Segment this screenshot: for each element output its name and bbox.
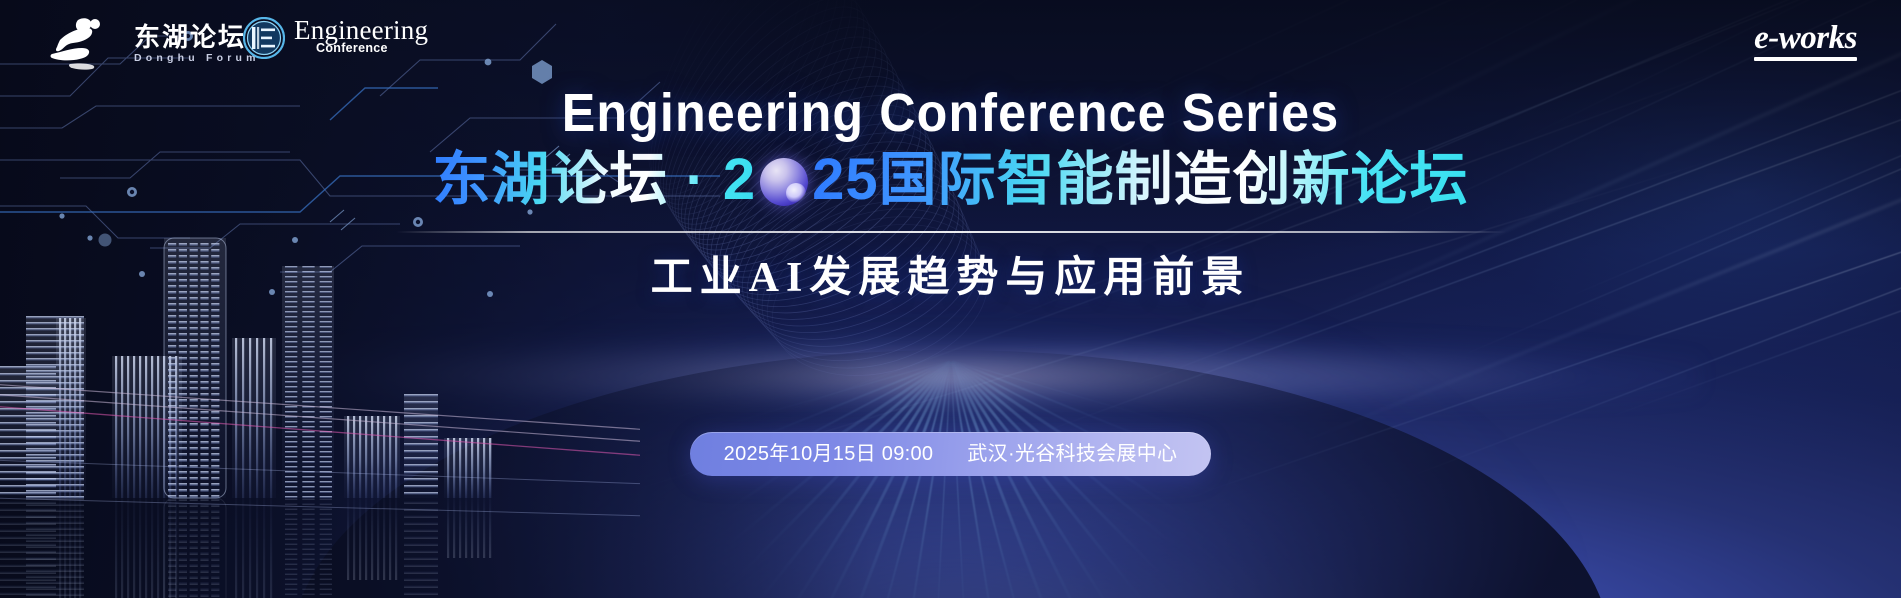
donghu-name-en: Donghu Forum xyxy=(134,53,260,64)
headline-zero-orb xyxy=(756,152,812,210)
donghu-running-figure-mark xyxy=(48,14,120,74)
ec-line-conference: Conference xyxy=(316,41,388,55)
building-reflection xyxy=(164,498,226,598)
conference-banner: 东湖论坛 Donghu Forum Engineering Confere xyxy=(0,0,1901,598)
building-stripes xyxy=(164,498,226,598)
info-pill-wrapper: 2025年10月15日 09:00 武汉·光谷科技会展中心 xyxy=(0,432,1901,476)
building-reflection xyxy=(347,498,397,580)
building-stripes xyxy=(235,498,272,598)
event-datetime: 2025年10月15日 09:00 xyxy=(724,444,934,464)
event-info-pill: 2025年10月15日 09:00 武汉·光谷科技会展中心 xyxy=(690,432,1212,476)
building-stripes xyxy=(447,498,491,558)
donghu-logo-text: 东湖论坛 Donghu Forum xyxy=(134,24,260,64)
engineering-conference-wordmark: Engineering Conference xyxy=(294,16,444,60)
eworks-wordmark: e-works xyxy=(1754,22,1857,55)
circular-e-emblem xyxy=(243,17,285,59)
building-reflection xyxy=(447,498,491,558)
building-reflection xyxy=(404,501,438,598)
logo-row: 东湖论坛 Donghu Forum Engineering Confere xyxy=(0,0,1901,96)
eworks-logo[interactable]: e-works xyxy=(1754,22,1857,61)
engineering-conference-logo[interactable]: Engineering Conference xyxy=(243,16,444,60)
headline-chinese: 东湖论坛 · 2 25国际智能制造创新论坛 xyxy=(0,148,1901,213)
donghu-forum-logo[interactable]: 东湖论坛 Donghu Forum xyxy=(48,14,260,74)
building-stripes xyxy=(404,501,438,598)
building-stripes xyxy=(347,498,397,580)
headline-chinese-after: 25国际智能制造创新论坛 xyxy=(812,148,1469,213)
eworks-underline xyxy=(1754,57,1857,61)
headline-subtitle: 工业AI发展趋势与应用前景 xyxy=(0,255,1901,301)
headline-block: Engineering Conference Series 东湖论坛 · 2 2… xyxy=(0,84,1901,301)
donghu-name-cn: 东湖论坛 xyxy=(134,24,260,50)
headline-english: Engineering Conference Series xyxy=(67,84,1835,142)
headline-divider xyxy=(396,231,1506,233)
building-reflection xyxy=(115,498,177,598)
headline-chinese-before: 东湖论坛 · 2 xyxy=(432,148,756,213)
building-stripes xyxy=(285,498,332,598)
event-venue: 武汉·光谷科技会展中心 xyxy=(967,444,1177,464)
building-reflection xyxy=(285,498,332,598)
building-reflection xyxy=(235,498,272,598)
sphere-graphic-icon xyxy=(760,158,808,206)
building-stripes xyxy=(115,498,177,598)
